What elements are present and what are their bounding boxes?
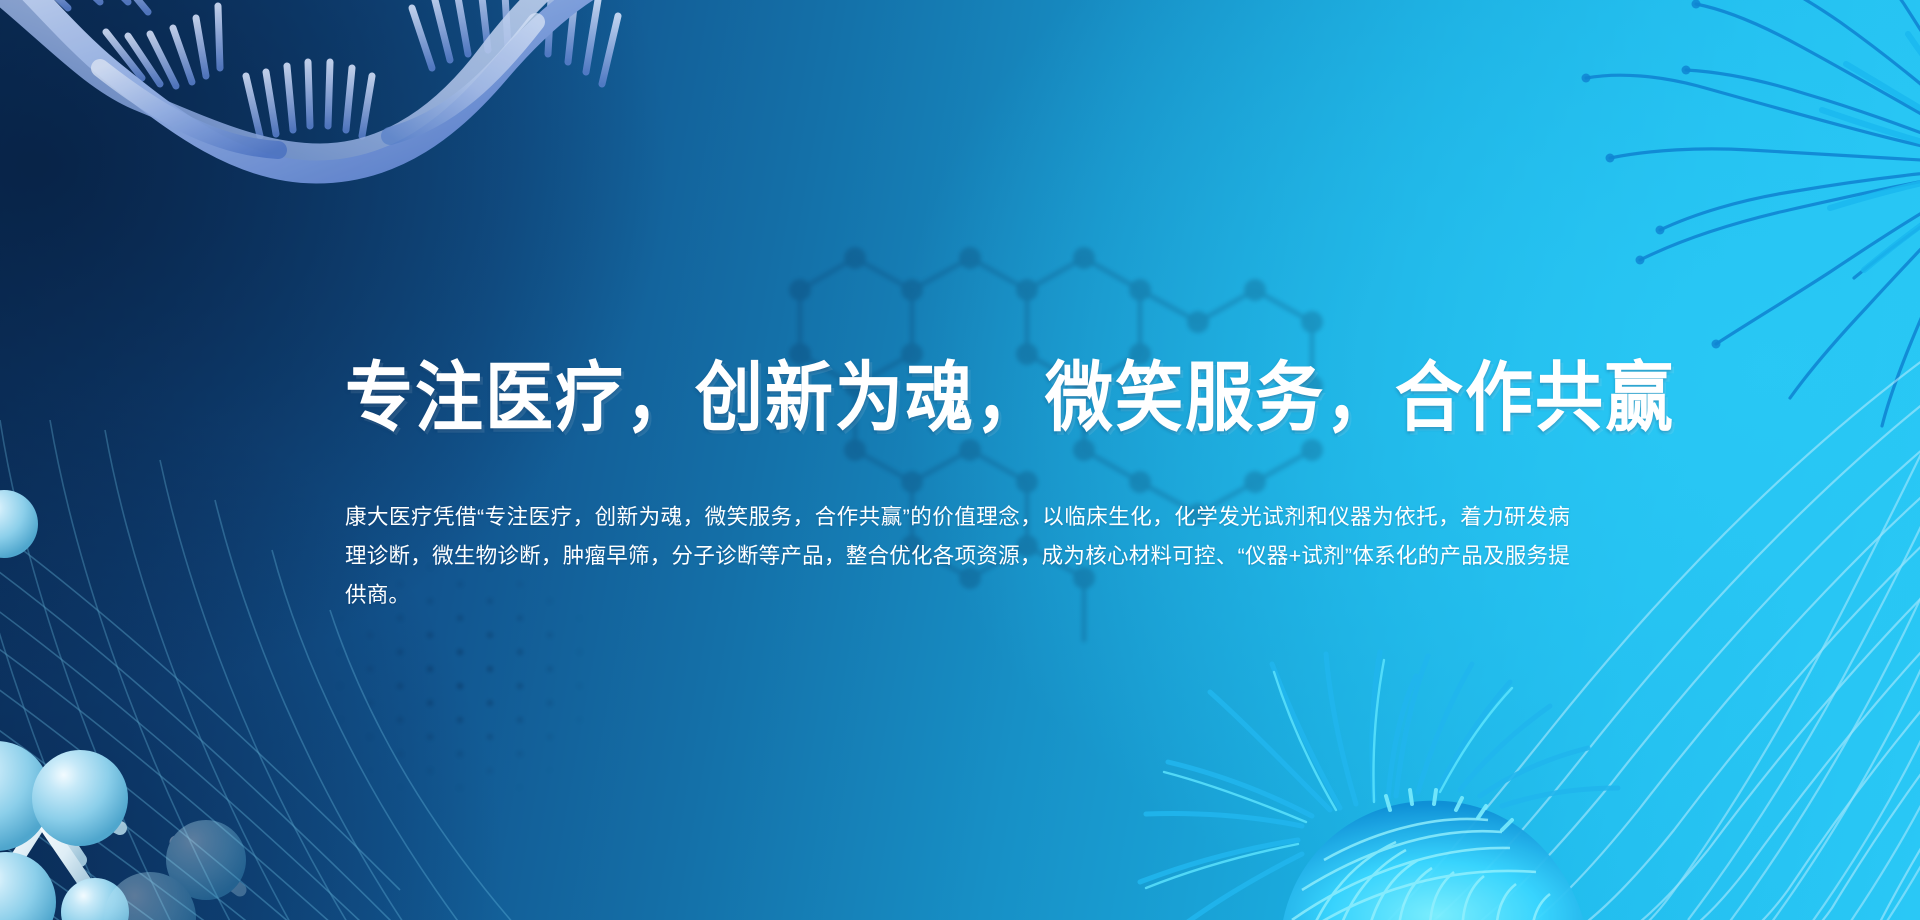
banner-description: 康大医疗凭借“专注医疗，创新为魂，微笑服务，合作共赢”的价值理念，以临床生化，化… [345, 436, 1570, 615]
hero-banner: 专注医疗，创新为魂，微笑服务，合作共赢 康大医疗凭借“专注医疗，创新为魂，微笑服… [0, 0, 1920, 920]
dna-helix-icon [0, 0, 660, 280]
page-title: 专注医疗，创新为魂，微笑服务，合作共赢 [345, 350, 1570, 446]
banner-text-block: 专注医疗，创新为魂，微笑服务，合作共赢 康大医疗凭借“专注医疗，创新为魂，微笑服… [345, 350, 1570, 615]
molecule-model-icon [0, 390, 300, 920]
